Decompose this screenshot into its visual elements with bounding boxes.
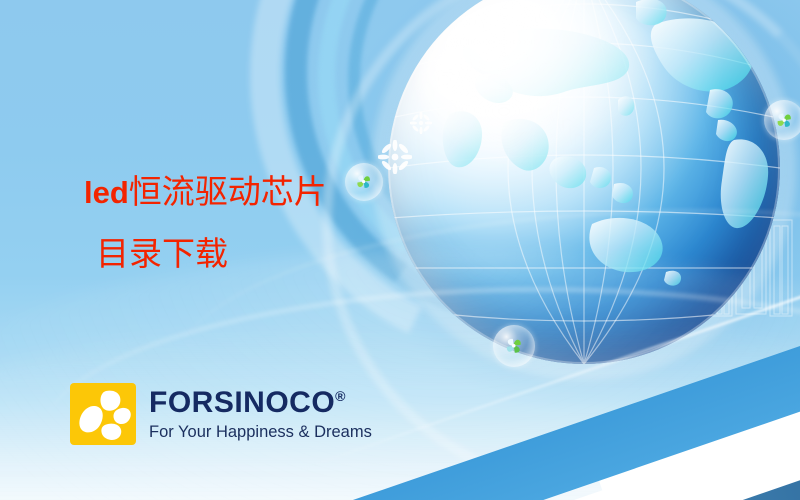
bubble-pinwheel-icon xyxy=(773,109,795,131)
bubble-pinwheel-mid-left xyxy=(345,163,383,201)
headline-latin: led xyxy=(84,175,129,210)
flower-sparkle-icon xyxy=(410,112,432,134)
headline-line-2: 目录下载 xyxy=(96,224,327,286)
bubble-pinwheel-icon xyxy=(353,171,374,192)
headline-text: led恒流驱动芯片 目录下载 xyxy=(84,162,327,286)
bubble-pinwheel-icon xyxy=(502,334,526,358)
bubble-pinwheel-lower-center xyxy=(493,325,535,367)
led-catalog-banner: led恒流驱动芯片 目录下载 FORSINOCO® For Your Happi… xyxy=(0,0,800,500)
flower-sparkle-icon xyxy=(378,140,412,174)
logo-text-block: FORSINOCO® For Your Happiness & Dreams xyxy=(149,388,372,441)
pinwheel-flower-shape xyxy=(70,383,136,445)
forsinoco-logo: FORSINOCO® For Your Happiness & Dreams xyxy=(70,383,372,445)
logo-name-text: FORSINOCO xyxy=(149,386,335,419)
logo-tagline: For Your Happiness & Dreams xyxy=(149,424,372,441)
headline-cjk: 恒流驱动芯片 xyxy=(129,175,327,211)
logo-name: FORSINOCO® xyxy=(149,388,372,418)
bubble-pinwheel-top-right xyxy=(764,100,800,140)
headline-line-1: led恒流驱动芯片 xyxy=(84,162,327,224)
registered-mark: ® xyxy=(335,388,345,404)
pinwheel-flower-icon xyxy=(70,383,136,445)
